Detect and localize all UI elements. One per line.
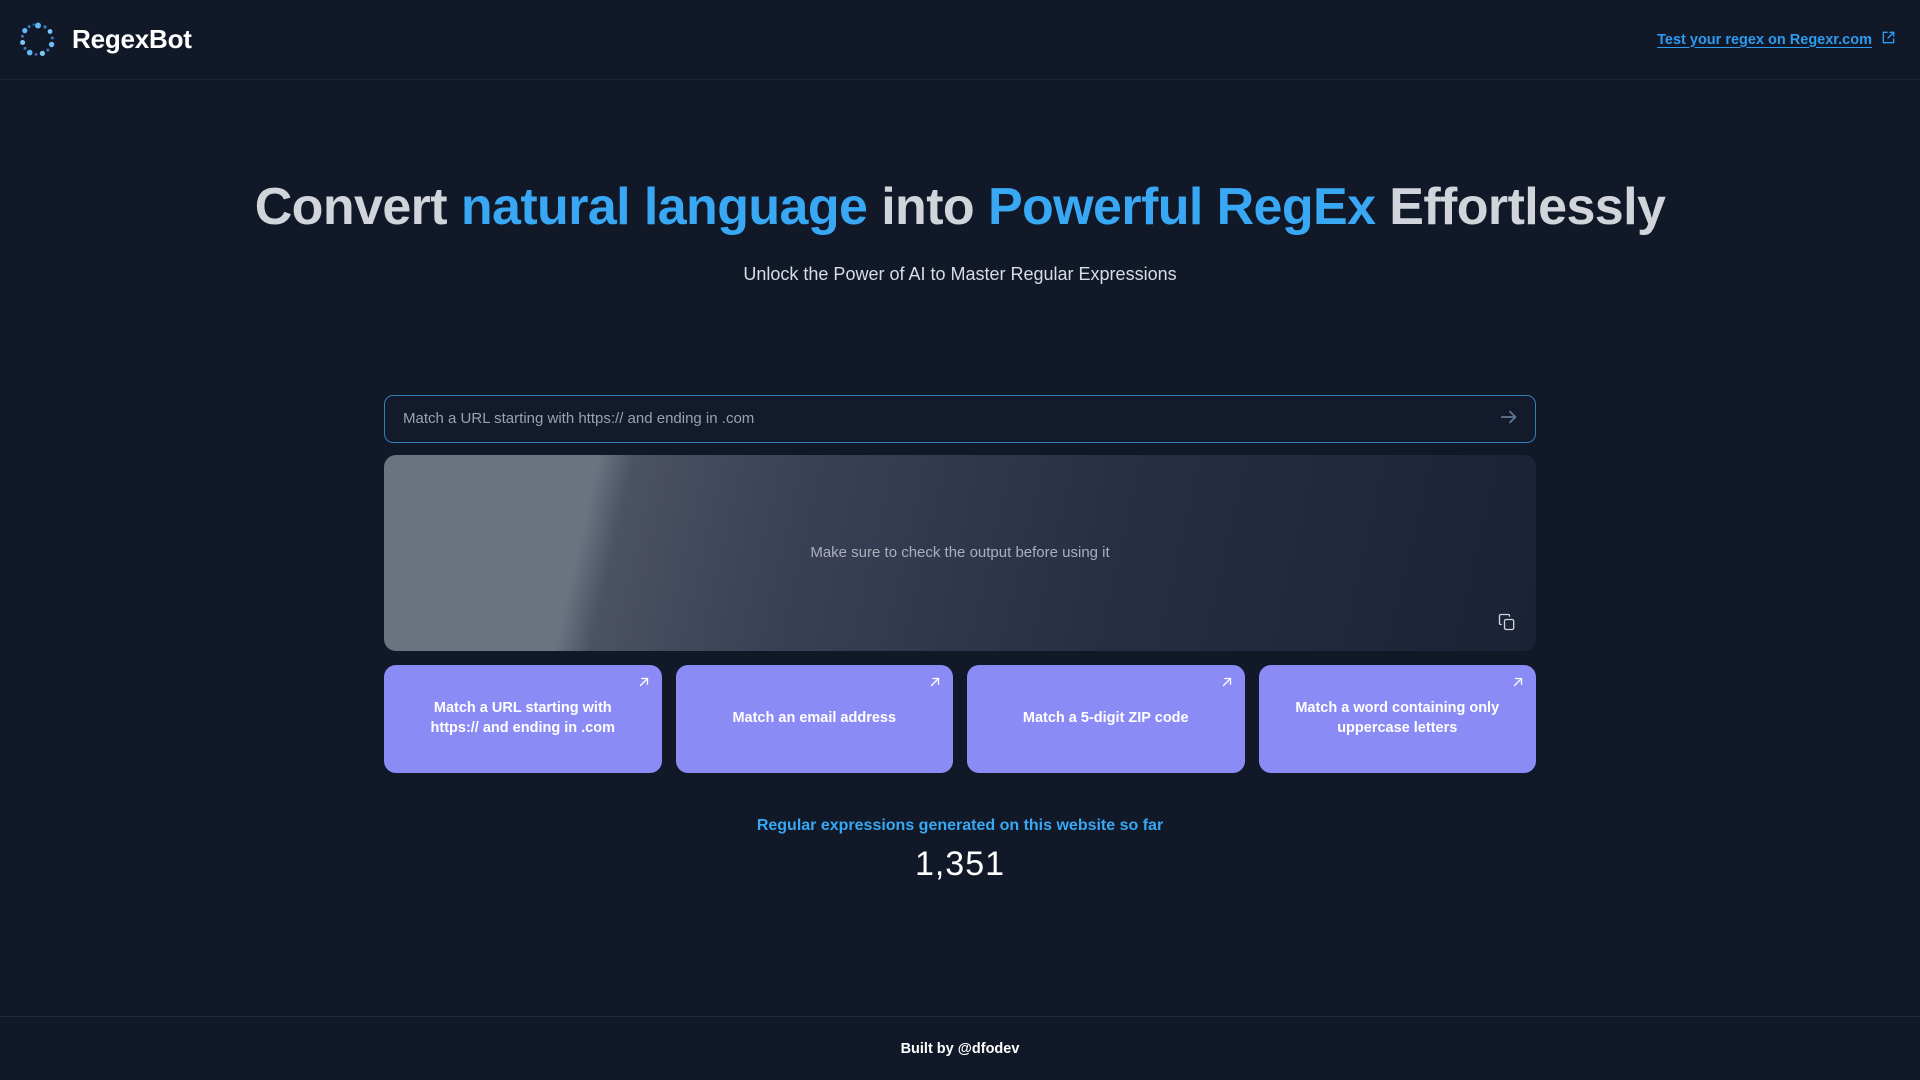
external-link-icon [1881,30,1896,49]
arrow-up-right-icon [636,674,652,690]
app-header: RegexBot Test your regex on Regexr.com [0,0,1920,80]
regex-output-panel: Make sure to check the output before usi… [384,455,1536,651]
main-content: Convert natural language into Powerful R… [0,80,1920,1016]
suggestion-cards: Match a URL starting with https:// and e… [384,665,1536,773]
page-subtitle: Unlock the Power of AI to Master Regular… [743,264,1176,285]
suggestion-card-2-label: Match an email address [732,709,896,729]
suggestion-card-1-label: Match a URL starting with https:// and e… [418,699,628,738]
footer-credit: Built by @dfodev [901,1041,1020,1057]
converter-section: Make sure to check the output before usi… [384,395,1536,884]
brand-name: RegexBot [72,24,192,55]
app-footer: Built by @dfodev [0,1016,1920,1080]
copy-output-button[interactable] [1494,611,1520,637]
arrow-up-right-icon [1219,674,1235,690]
prompt-input[interactable] [403,396,1483,442]
arrow-up-right-icon [927,674,943,690]
suggestion-card-4[interactable]: Match a word containing only uppercase l… [1259,665,1537,773]
title-segment-2: into [867,178,988,236]
suggestion-card-1[interactable]: Match a URL starting with https:// and e… [384,665,662,773]
regexr-link-label: Test your regex on Regexr.com [1657,32,1872,48]
suggestion-card-2[interactable]: Match an email address [676,665,954,773]
suggestion-card-3[interactable]: Match a 5-digit ZIP code [967,665,1245,773]
regexr-external-link[interactable]: Test your regex on Regexr.com [1657,30,1896,49]
brand: RegexBot [18,20,192,60]
submit-button[interactable] [1495,405,1523,433]
dotted-ring-logo-icon [18,20,58,60]
generation-counter: Regular expressions generated on this we… [384,817,1536,884]
title-segment-3: Effortlessly [1375,178,1665,236]
title-highlight-2: Powerful RegEx [988,178,1375,236]
suggestion-card-3-label: Match a 5-digit ZIP code [1023,709,1189,729]
prompt-input-row[interactable] [384,395,1536,443]
arrow-right-icon [1498,406,1520,431]
title-segment-1: Convert [255,178,461,236]
arrow-up-right-icon [1510,674,1526,690]
suggestion-card-4-label: Match a word containing only uppercase l… [1292,699,1502,738]
title-highlight-1: natural language [461,178,867,236]
page-title: Convert natural language into Powerful R… [255,178,1666,238]
generation-counter-label: Regular expressions generated on this we… [384,817,1536,835]
generation-counter-value: 1,351 [384,845,1536,884]
copy-icon [1497,612,1517,635]
output-placeholder-message: Make sure to check the output before usi… [810,544,1109,561]
